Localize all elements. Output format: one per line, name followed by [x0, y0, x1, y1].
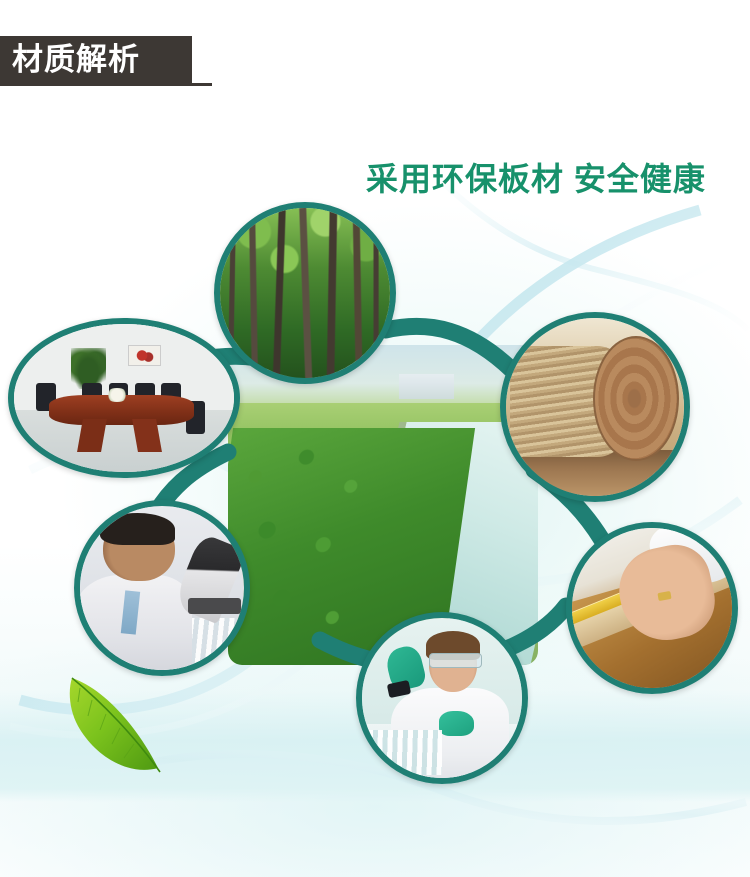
- log-end-face: [593, 336, 679, 461]
- conference-room-photo: [14, 324, 234, 472]
- page-title: 材质解析: [12, 44, 140, 75]
- laboratory-photo: [362, 618, 522, 778]
- bubble-forest[interactable]: [214, 202, 396, 384]
- bubble-timber-log[interactable]: [500, 312, 690, 502]
- bubble-conference-room[interactable]: [8, 318, 240, 478]
- microscope-photo: [80, 506, 244, 670]
- material-analysis-page: 材质解析 采用环保板材 安全健康: [0, 0, 750, 877]
- safety-goggles-icon: [429, 653, 482, 668]
- timber-log-photo: [506, 318, 684, 496]
- page-title-banner: 材质解析: [0, 36, 192, 83]
- green-leaf-icon: [58, 672, 188, 790]
- bubble-board-measuring[interactable]: [566, 522, 738, 694]
- sample-vials: [368, 730, 442, 775]
- forest-photo: [220, 208, 390, 378]
- title-underline: [0, 83, 212, 86]
- wall-art: [128, 345, 161, 366]
- board-measuring-photo: [572, 528, 732, 688]
- bubble-laboratory[interactable]: [356, 612, 528, 784]
- bubble-microscope[interactable]: [74, 500, 250, 676]
- tagline-text: 采用环保板材 安全健康: [366, 154, 706, 200]
